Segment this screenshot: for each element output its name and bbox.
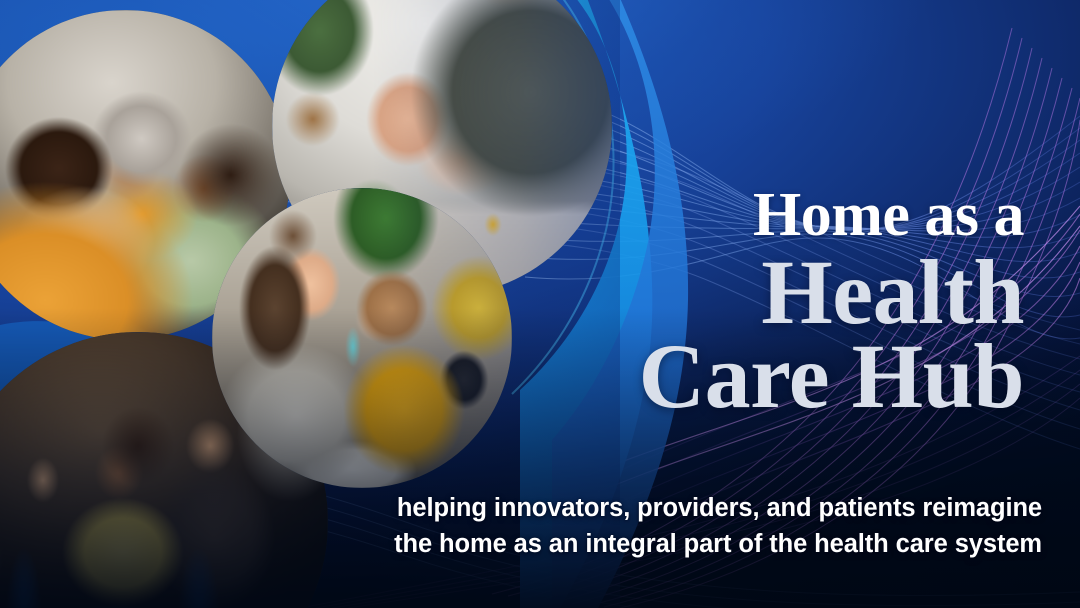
headline-line-2: Health	[504, 248, 1024, 336]
subtitle-line-1: helping innovators, providers, and patie…	[0, 490, 1042, 526]
headline-line-3: Care Hub	[504, 332, 1024, 420]
subtitle: helping innovators, providers, and patie…	[0, 490, 1042, 562]
banner: Home as a Health Care Hub helping innova…	[0, 0, 1080, 608]
page-title: Home as a Health Care Hub	[504, 186, 1024, 420]
headline-line-1: Home as a	[504, 186, 1024, 246]
subtitle-line-2: the home as an integral part of the heal…	[0, 526, 1042, 562]
